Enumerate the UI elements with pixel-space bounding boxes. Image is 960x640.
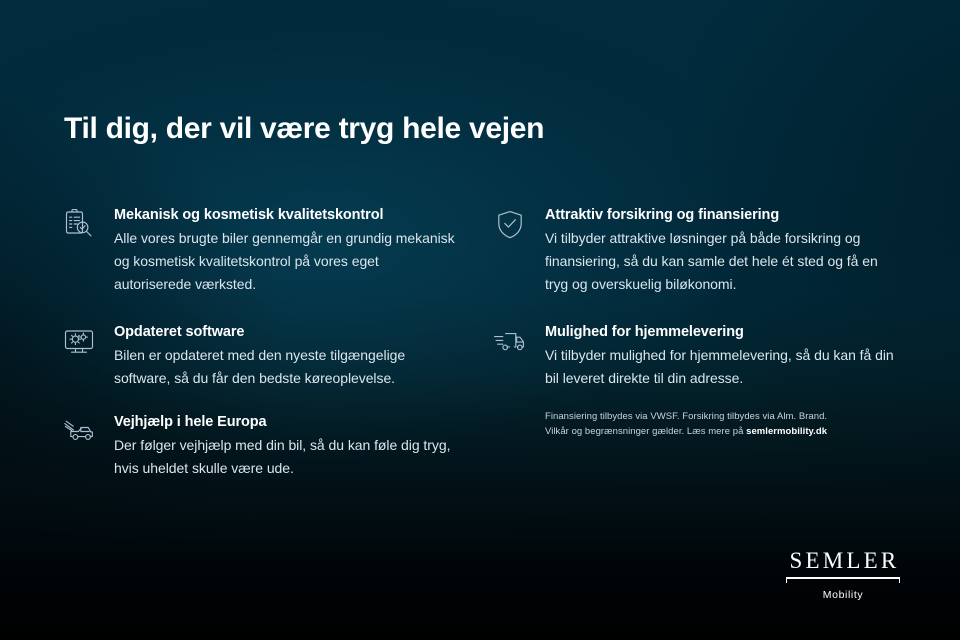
- feature-description: Alle vores brugte biler gennemgår en gru…: [114, 227, 458, 296]
- semler-mobility-logo: SEMLER Mobility: [784, 548, 902, 602]
- clipboard-check-magnifier-icon: [58, 208, 100, 248]
- page-title: Til dig, der vil være tryg hele vejen: [64, 110, 784, 148]
- feature-body: Attraktiv forsikring og finansiering Vi …: [531, 205, 899, 296]
- disclaimer-line-2-prefix: Vilkår og begrænsninger gælder. Læs mere…: [545, 426, 746, 437]
- feature-title: Vejhjælp i hele Europa: [114, 412, 458, 432]
- feature-column-right: Attraktiv forsikring og finansiering Vi …: [489, 205, 899, 410]
- slide-content: Til dig, der vil være tryg hele vejen: [0, 0, 960, 640]
- feature-item-insurance-financing: Attraktiv forsikring og finansiering Vi …: [489, 205, 899, 296]
- feature-body: Mekanisk og kosmetisk kvalitetskontrol A…: [100, 205, 458, 296]
- feature-body: Opdateret software Bilen er opdateret me…: [100, 322, 458, 390]
- feature-item-quality-control: Mekanisk og kosmetisk kvalitetskontrol A…: [58, 205, 458, 296]
- disclaimer-line-1: Finansiering tilbydes via VWSF. Forsikri…: [545, 411, 827, 422]
- feature-item-roadside-assistance: Vejhjælp i hele Europa Der følger vejhjæ…: [58, 412, 458, 480]
- feature-body: Mulighed for hjemmelevering Vi tilbyder …: [531, 322, 899, 390]
- feature-description: Vi tilbyder mulighed for hjemmelevering,…: [545, 344, 899, 390]
- monitor-gears-icon: [58, 325, 100, 365]
- feature-item-home-delivery: Mulighed for hjemmelevering Vi tilbyder …: [489, 322, 899, 390]
- feature-body: Vejhjælp i hele Europa Der følger vejhjæ…: [100, 412, 458, 480]
- feature-column-left: Mekanisk og kosmetisk kvalitetskontrol A…: [58, 205, 458, 480]
- logo-wordmark: SEMLER: [784, 548, 902, 574]
- feature-description: Bilen er opdateret med den nyeste tilgæn…: [114, 344, 458, 390]
- tow-truck-icon: [58, 415, 100, 455]
- disclaimer-text: Finansiering tilbydes via VWSF. Forsikri…: [545, 409, 875, 439]
- shield-check-icon: [489, 208, 531, 248]
- feature-description: Der følger vejhjælp med din bil, så du k…: [114, 434, 458, 480]
- feature-title: Mulighed for hjemmelevering: [545, 322, 899, 342]
- slide-root: Til dig, der vil være tryg hele vejen: [0, 0, 960, 640]
- feature-description: Vi tilbyder attraktive løsninger på både…: [545, 227, 899, 296]
- feature-title: Mekanisk og kosmetisk kvalitetskontrol: [114, 205, 458, 225]
- feature-item-updated-software: Opdateret software Bilen er opdateret me…: [58, 322, 458, 390]
- feature-title: Attraktiv forsikring og finansiering: [545, 205, 899, 225]
- logo-subtitle: Mobility: [784, 588, 902, 602]
- delivery-truck-icon: [489, 325, 531, 365]
- disclaimer-website-link[interactable]: semlermobility.dk: [746, 426, 827, 437]
- logo-rule-divider: [784, 577, 902, 586]
- feature-title: Opdateret software: [114, 322, 458, 342]
